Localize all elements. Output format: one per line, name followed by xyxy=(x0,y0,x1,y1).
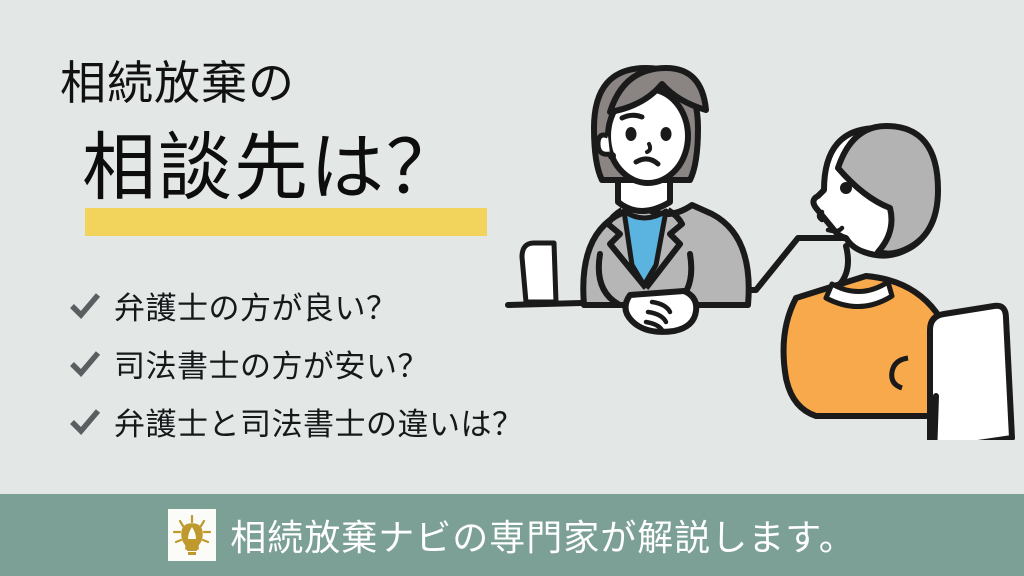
check-icon xyxy=(68,405,102,439)
slide-canvas: 相続放棄の 相談先は？ 弁護士の方が良い？ 司法書士の方が安い？ 弁護士と司法書… xyxy=(0,0,1024,576)
list-item: 司法書士の方が安い？ xyxy=(68,341,524,386)
person-worried-woman xyxy=(583,68,748,332)
bullet-list: 弁護士の方が良い？ 司法書士の方が安い？ 弁護士と司法書士の違いは？ xyxy=(68,283,524,444)
check-icon xyxy=(68,289,102,323)
list-item: 弁護士と司法書士の違いは？ xyxy=(68,399,524,444)
headline-text: 相談先は？ xyxy=(82,128,462,208)
footer-bar: 相続放棄ナビの専門家が解説します。 xyxy=(0,494,1024,576)
footer-text: 相続放棄ナビの専門家が解説します。 xyxy=(230,509,855,561)
person-seated-listener xyxy=(784,126,1012,440)
title-line-1: 相続放棄の xyxy=(60,58,295,110)
list-item-label: 弁護士の方が良い？ xyxy=(114,283,398,328)
lightbulb-icon xyxy=(172,514,212,556)
list-item: 弁護士の方が良い？ xyxy=(68,283,524,328)
list-item-label: 司法書士の方が安い？ xyxy=(114,341,429,386)
illustration-svg xyxy=(498,40,1024,440)
headline-highlight-bar xyxy=(85,208,487,236)
check-icon xyxy=(68,347,102,381)
lightbulb-badge xyxy=(168,509,216,561)
two-people-consultation-illustration xyxy=(498,40,1024,440)
list-item-label: 弁護士と司法書士の違いは？ xyxy=(114,399,524,444)
headline-group: 相談先は？ xyxy=(82,128,462,236)
